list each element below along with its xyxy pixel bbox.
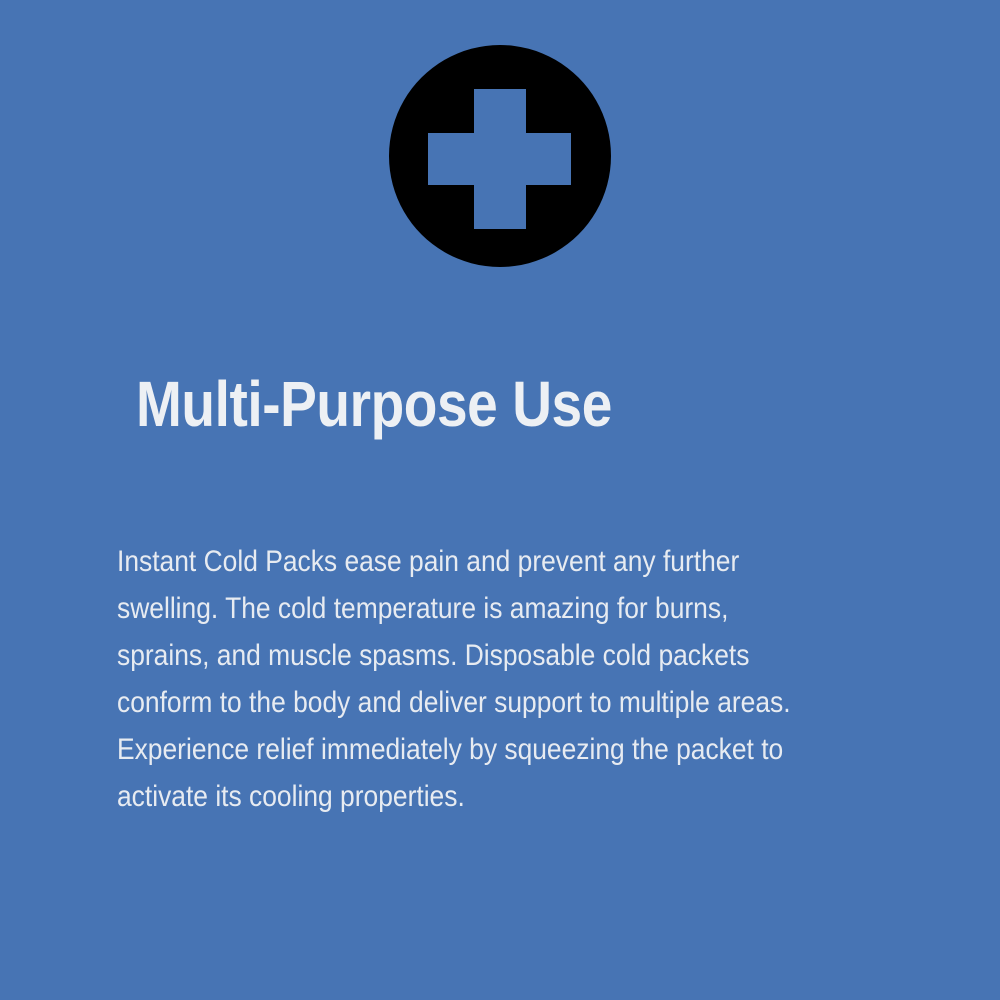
card-description: Instant Cold Packs ease pain and prevent… (117, 538, 812, 820)
feature-card: Multi-Purpose Use Instant Cold Packs eas… (0, 0, 1000, 1000)
icon-area (0, 0, 1000, 300)
page-title: Multi-Purpose Use (136, 368, 824, 440)
medical-cross-icon (389, 45, 611, 267)
